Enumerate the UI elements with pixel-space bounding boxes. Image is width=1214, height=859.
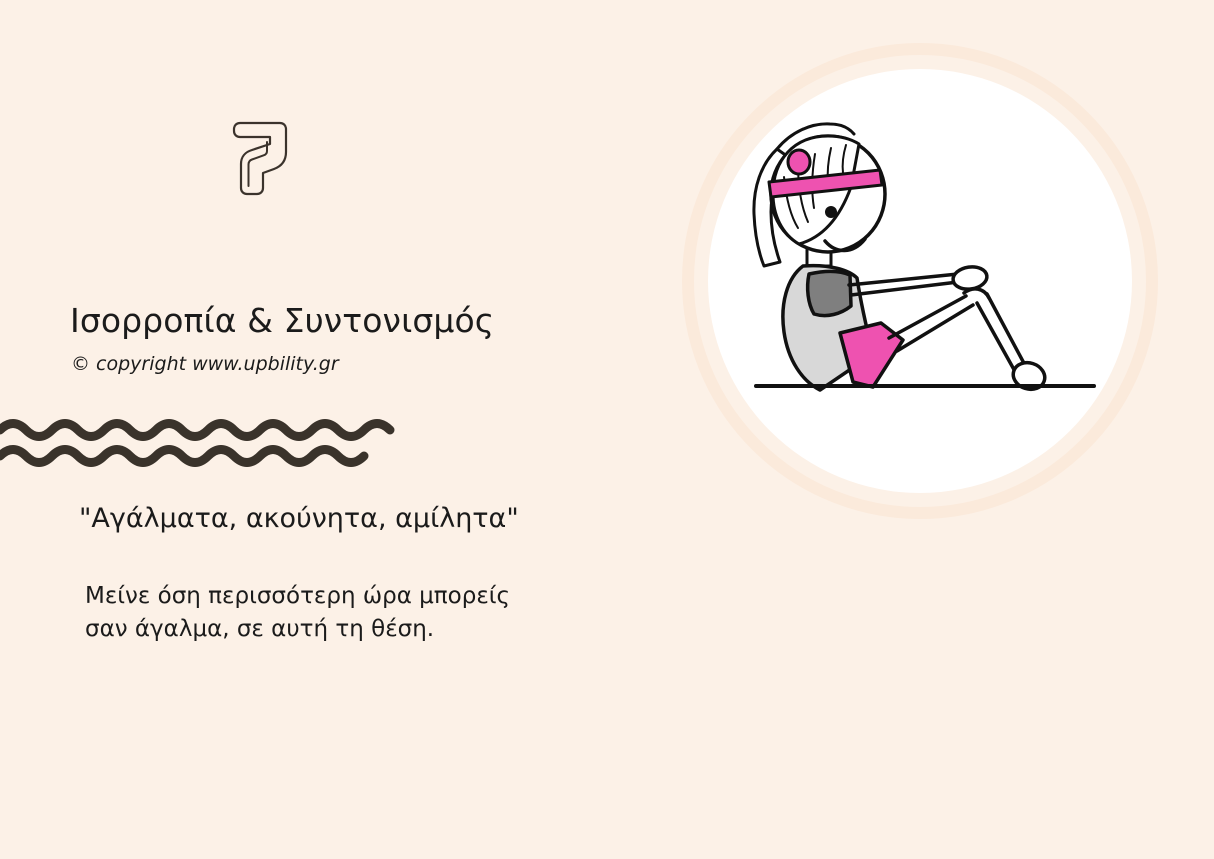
- wave-line-top: [0, 424, 390, 437]
- logo-outer-path: [234, 123, 286, 194]
- white-disc-background: [708, 69, 1132, 493]
- upbility-seven-logo-icon: [226, 120, 288, 196]
- quote-text: "Αγάλματα, ακούνητα, αμίλητα": [79, 503, 519, 534]
- page-title: Ισορροπία & Συντονισμός: [70, 301, 494, 340]
- wave-line-bottom: [0, 450, 364, 463]
- girl-boat-pose-illustration: [681, 42, 1159, 520]
- eye: [825, 206, 837, 218]
- instruction-line-2: σαν άγαλμα, σε αυτή τη θέση.: [85, 613, 510, 646]
- headband-knot: [788, 150, 810, 174]
- sleeve: [808, 271, 851, 315]
- instruction-line-1: Μείνε όση περισσότερη ώρα μπορείς: [85, 580, 510, 613]
- slide-canvas: Ισορροπία & Συντονισμός © copyright www.…: [0, 0, 1214, 859]
- copyright-line: © copyright www.upbility.gr: [71, 353, 339, 375]
- wavy-divider: [0, 404, 418, 470]
- instruction-text: Μείνε όση περισσότερη ώρα μπορείς σαν άγ…: [85, 580, 510, 646]
